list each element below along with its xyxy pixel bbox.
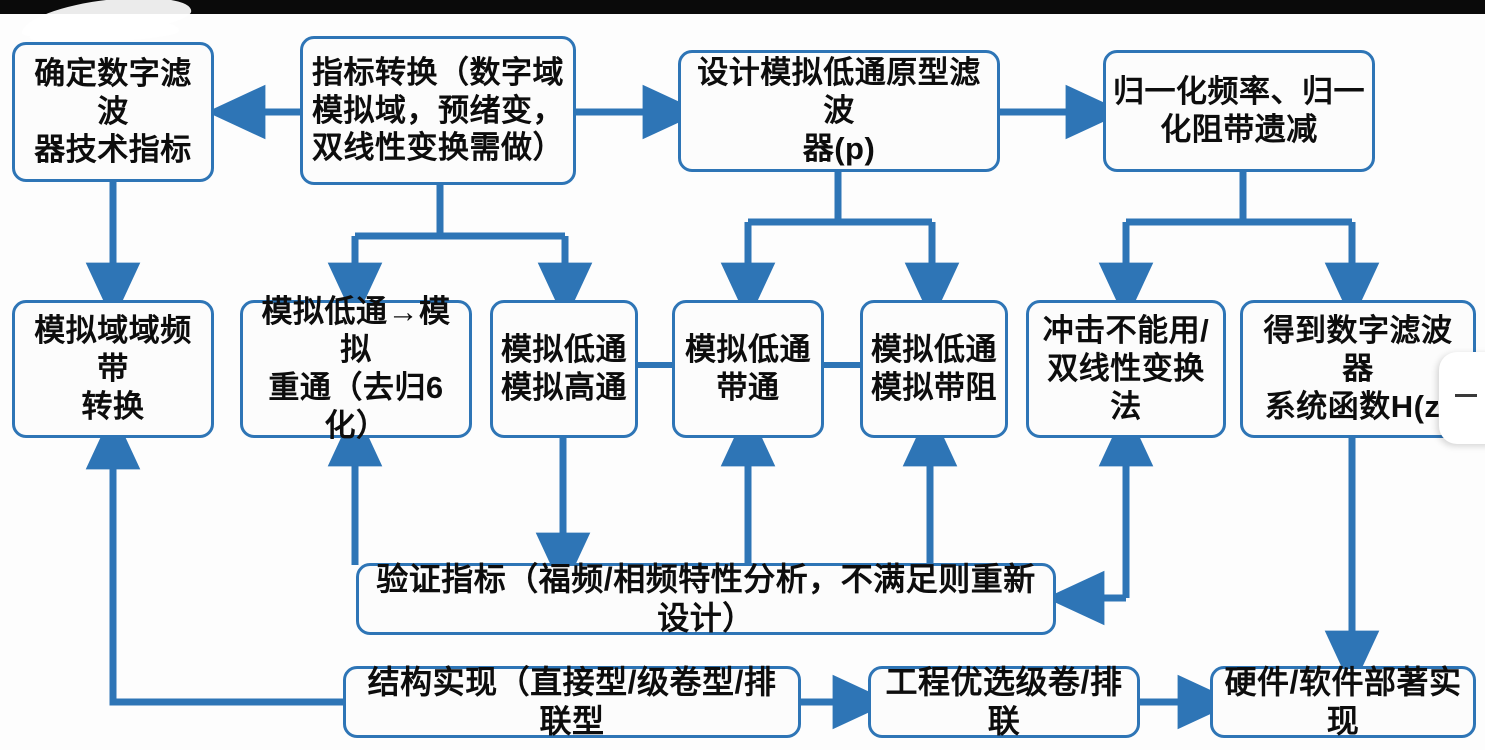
node-spec-conversion[interactable]: 指标转换（数字域 模拟域，预绪变， 双线性变换需做） [300,36,576,185]
edge-n13-n5 [113,440,345,702]
node-verify-specs[interactable]: 验证指标（福频/相频特性分析，不满足则重新设计） [356,563,1056,635]
node-analog-lowpass-to-analog-bandpass[interactable]: 模拟低通→模拟 重通（去归6化） [240,300,472,438]
node-structure-realization[interactable]: 结构实现（直接型/级卷型/排联型 [343,666,801,738]
node-analog-lowpass-to-highpass[interactable]: 模拟低通 模拟高通 [490,300,638,438]
edge-floating-card[interactable] [1439,352,1485,444]
minus-icon [1455,394,1477,397]
node-analog-domain-band-transform[interactable]: 模拟域域频带 转换 [12,300,214,438]
node-normalized-frequency-attenuation[interactable]: 归一化频率、归一 化阻带遗减 [1103,50,1375,172]
flowchart-canvas: 确定数字滤波 器技术指标 指标转换（数字域 模拟域，预绪变， 双线性变换需做） … [0,0,1485,750]
node-determine-digital-filter-specs[interactable]: 确定数字滤波 器技术指标 [12,42,214,182]
node-design-analog-lowpass-prototype[interactable]: 设计模拟低通原型滤波 器(p) [678,50,1000,172]
node-engineering-preference[interactable]: 工程优选级卷/排联 [868,666,1140,738]
node-hardware-software-deployment[interactable]: 硬件/软件部著实现 [1210,666,1476,738]
node-analog-lowpass-bandpass[interactable]: 模拟低通 带通 [672,300,824,438]
node-analog-lowpass-bandstop[interactable]: 模拟低通 模拟带阻 [860,300,1008,438]
node-impulse-invariance-bilinear[interactable]: 冲击不能用/ 双线性变换法 [1026,300,1226,438]
